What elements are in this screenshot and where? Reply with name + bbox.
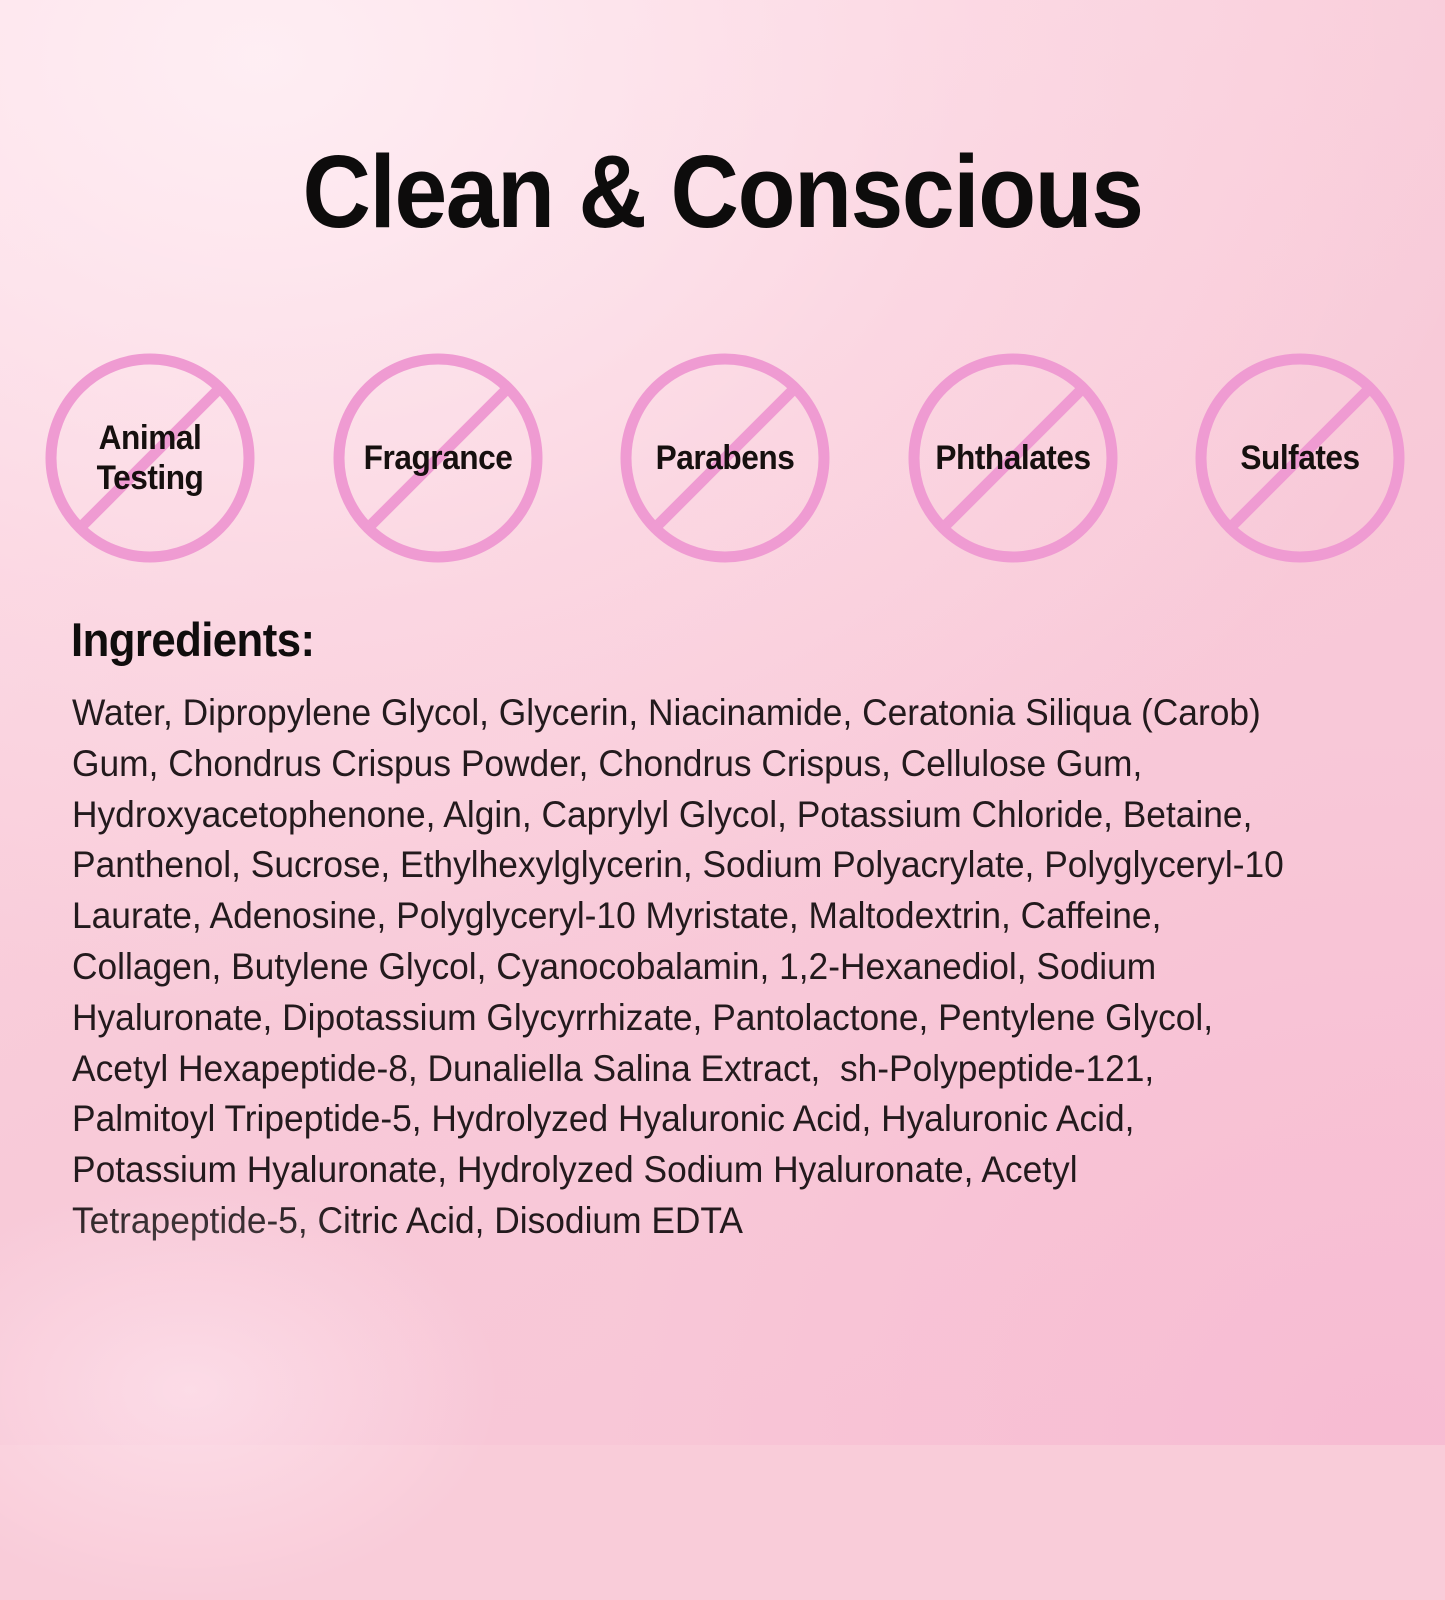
page-title: Clean & Conscious [58, 140, 1387, 243]
ingredients-line: Collagen, Butylene Glycol, Cyanocobalami… [72, 942, 1333, 993]
ingredients-line: Laurate, Adenosine, Polyglyceryl-10 Myri… [72, 891, 1333, 942]
ingredients-line: Acetyl Hexapeptide-8, Dunaliella Salina … [72, 1044, 1333, 1095]
badge-parabens: Parabens [619, 352, 831, 564]
ingredients-line: Tetrapeptide-5, Citric Acid, Disodium ED… [72, 1196, 1333, 1247]
ingredients-line: Water, Dipropylene Glycol, Glycerin, Nia… [72, 688, 1333, 739]
badge-sulfates: Sulfates [1194, 352, 1406, 564]
badge-label: Sulfates [1201, 438, 1398, 478]
badge-label: Fragrance [339, 438, 536, 478]
badge-phthalates: Phthalates [907, 352, 1119, 564]
badge-label-line-1: Animal [99, 419, 202, 457]
ingredients-line: Hydroxyacetophenone, Algin, Caprylyl Gly… [72, 790, 1333, 841]
free-from-badge-row: AnimalTesting Fragrance Parabens Phtha [44, 352, 1406, 564]
ingredients-line: Panthenol, Sucrose, Ethylhexylglycerin, … [72, 840, 1333, 891]
badge-label: Phthalates [914, 438, 1111, 478]
ingredients-line: Potassium Hyaluronate, Hydrolyzed Sodium… [72, 1145, 1333, 1196]
ingredients-line: Palmitoyl Tripeptide-5, Hydrolyzed Hyalu… [72, 1094, 1333, 1145]
ingredients-list: Water, Dipropylene Glycol, Glycerin, Nia… [72, 688, 1333, 1247]
ingredients-heading: Ingredients: [71, 612, 314, 667]
badge-fragrance: Fragrance [332, 352, 544, 564]
badge-label: Parabens [626, 438, 823, 478]
ingredients-line: Hyaluronate, Dipotassium Glycyrrhizate, … [72, 993, 1333, 1044]
ingredients-line: Gum, Chondrus Crispus Powder, Chondrus C… [72, 739, 1333, 790]
badge-label: AnimalTesting [51, 418, 248, 498]
product-info-panel: Clean & Conscious AnimalTesting Fragranc… [0, 0, 1445, 1445]
badge-animal-testing: AnimalTesting [44, 352, 256, 564]
badge-label-line-2: Testing [97, 459, 204, 497]
